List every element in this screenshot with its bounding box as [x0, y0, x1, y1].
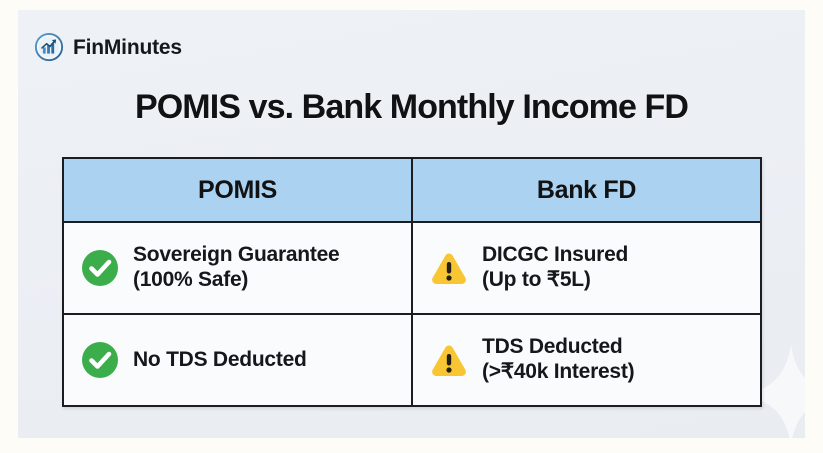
brand-name: FinMinutes	[73, 37, 182, 58]
yellow-warning-triangle-icon	[429, 248, 469, 288]
cell-bank-tds: TDS Deducted (>₹40k Interest)	[412, 314, 761, 406]
cell-pomis-safety: Sovereign Guarantee (100% Safe)	[63, 222, 412, 314]
cell-bank-safety: DICGC Insured (Up to ₹5L)	[412, 222, 761, 314]
table-row: No TDS Deducted TDS Deduc	[63, 314, 761, 406]
cell-text: Sovereign Guarantee (100% Safe)	[133, 243, 340, 293]
cell-line-1: TDS Deducted	[482, 335, 623, 358]
cell-line-2: (Up to ₹5L)	[482, 268, 628, 293]
column-header-pomis: POMIS	[63, 158, 412, 222]
green-check-circle-icon	[80, 248, 120, 288]
yellow-warning-triangle-icon	[429, 340, 469, 380]
green-check-circle-icon	[80, 340, 120, 380]
comparison-table: POMIS Bank FD Sovereign Guarantee	[62, 157, 762, 407]
chart-arrow-circle-logo-icon	[34, 32, 64, 62]
cell-text: DICGC Insured (Up to ₹5L)	[482, 243, 628, 293]
cell-pomis-tds: No TDS Deducted	[63, 314, 412, 406]
table-row: Sovereign Guarantee (100% Safe)	[63, 222, 761, 314]
slide-frame: FinMinutes POMIS vs. Bank Monthly Income…	[0, 0, 823, 453]
cell-text: TDS Deducted (>₹40k Interest)	[482, 335, 634, 385]
cell-line-2: (100% Safe)	[133, 268, 340, 293]
slide-canvas: FinMinutes POMIS vs. Bank Monthly Income…	[18, 10, 805, 438]
cell-line-1: No TDS Deducted	[133, 348, 307, 371]
cell-line-1: DICGC Insured	[482, 243, 628, 266]
cell-line-1: Sovereign Guarantee	[133, 243, 340, 266]
cell-line-2: (>₹40k Interest)	[482, 360, 634, 385]
page-title: POMIS vs. Bank Monthly Income FD	[18, 88, 805, 127]
cell-text: No TDS Deducted	[133, 348, 307, 371]
brand-lockup: FinMinutes	[34, 32, 182, 62]
table-header-row: POMIS Bank FD	[63, 158, 761, 222]
column-header-bank-fd: Bank FD	[412, 158, 761, 222]
